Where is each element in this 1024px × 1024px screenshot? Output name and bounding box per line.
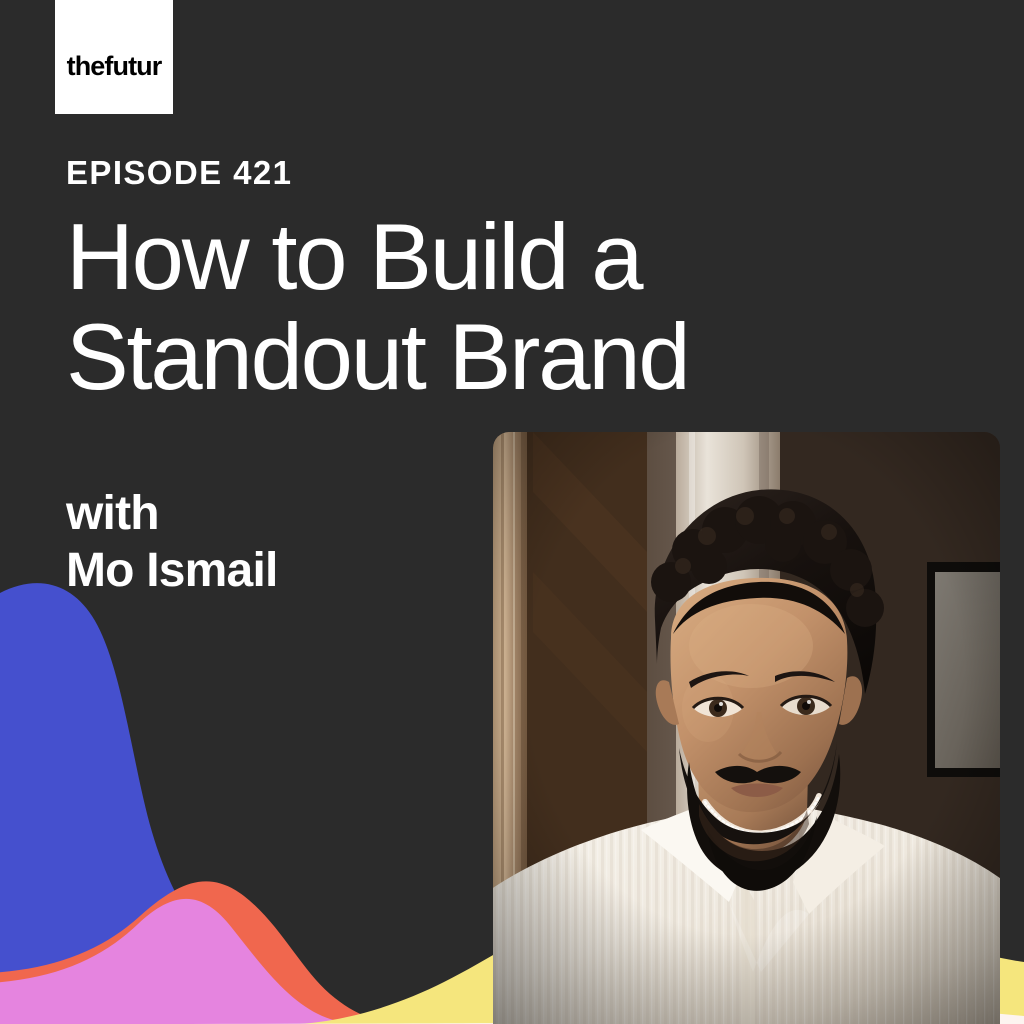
coral-wave: [0, 881, 392, 1024]
guest-name-label: Mo Ismail: [66, 543, 278, 600]
pink-wave: [0, 899, 372, 1024]
episode-text-block: EPISODE 421 How to Build a Standout Bran…: [66, 156, 726, 408]
guest-portrait-photo: [493, 432, 1000, 1024]
blue-wave: [0, 583, 380, 1024]
guest-credit-block: with Mo Ismail: [66, 486, 278, 599]
episode-title: How to Build a Standout Brand: [66, 207, 726, 408]
logo-wordmark: thefutur: [67, 53, 162, 80]
thefutur-logo[interactable]: thefutur: [55, 0, 173, 114]
podcast-cover-art: thefutur EPISODE 421 How to Build a Stan…: [0, 0, 1024, 1024]
episode-number-label: EPISODE 421: [66, 156, 726, 191]
guest-prefix-label: with: [66, 486, 278, 543]
